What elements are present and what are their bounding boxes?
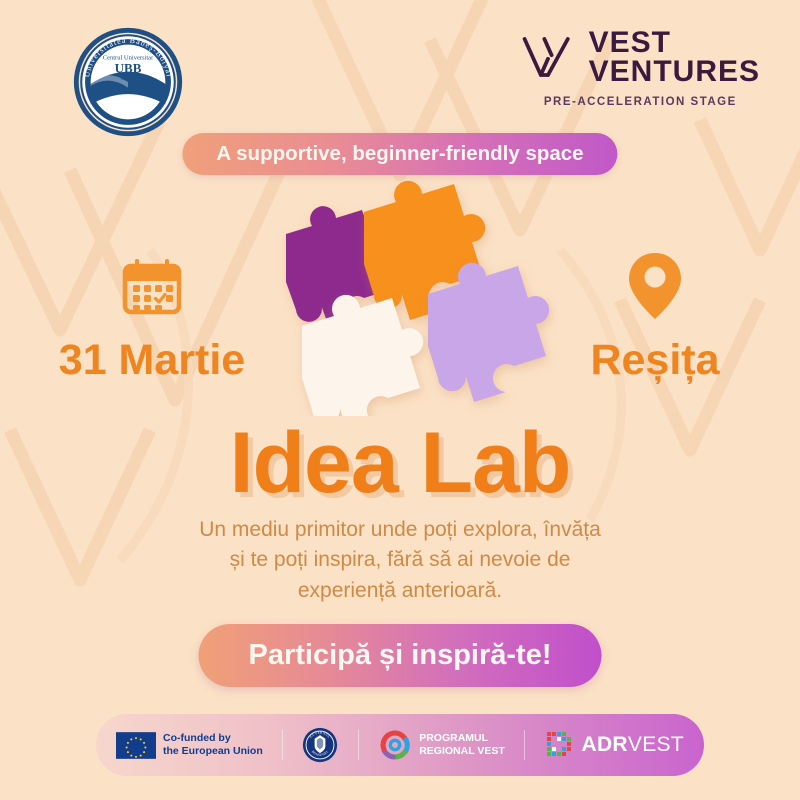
puzzle-pieces-graphic — [268, 176, 558, 416]
adrvest-text: ADRVEST — [582, 733, 684, 757]
ubb-university-seal-icon: Centrul Universitar UBB Reșița Universit… — [72, 26, 184, 138]
calendar-icon — [117, 248, 187, 324]
description-text: Un mediu primitor unde poți explora, înv… — [130, 515, 670, 606]
eu-funding-logo: Co-funded by the European Union — [116, 732, 263, 759]
footer-divider-3 — [524, 730, 525, 760]
vest-ventures-line1: VEST — [589, 28, 760, 57]
cta-button[interactable]: Participă și inspiră-te! — [199, 624, 602, 687]
lavender-piece — [428, 263, 549, 402]
vest-ventures-line2: VENTURES — [589, 57, 760, 86]
svg-text:UBB: UBB — [115, 61, 142, 76]
footer-divider-1 — [282, 730, 283, 760]
svg-text:Reșița: Reșița — [121, 76, 135, 82]
event-date-block: 31 Martie — [34, 248, 270, 385]
adrvest-logo: ADRVEST — [545, 730, 684, 760]
supportive-space-banner: A supportive, beginner-friendly space — [182, 133, 617, 175]
vest-ventures-logo: VEST VENTURES PRE-ACCELERATION STAGE — [521, 28, 760, 108]
adrvest-thin: VEST — [628, 733, 684, 756]
map-pin-icon — [624, 248, 686, 324]
eu-funding-line-1: Co-funded by — [163, 732, 263, 745]
page-title: Idea Lab — [0, 414, 800, 513]
funding-footer-bar: Co-funded by the European Union GUVERNUL… — [96, 714, 704, 776]
adrvest-bold: ADR — [582, 733, 628, 756]
event-location-text: Reșița — [590, 336, 719, 385]
description-line-1: Un mediu primitor unde poți explora, înv… — [130, 515, 670, 545]
eu-funding-line-2: the European Union — [163, 745, 263, 758]
event-location-block: Reșița — [540, 248, 770, 385]
vest-ventures-logo-icon — [521, 30, 575, 84]
guvernul-romaniei-logo: GUVERNUL ROMÂNIEI — [302, 727, 338, 763]
poster-canvas: Centrul Universitar UBB Reșița Universit… — [0, 0, 800, 800]
footer-divider-2 — [358, 730, 359, 760]
event-date-text: 31 Martie — [59, 336, 245, 385]
program-line-2: REGIONAL VEST — [419, 745, 505, 758]
program-line-1: PROGRAMUL — [419, 732, 505, 745]
vest-ventures-subtitle: PRE-ACCELERATION STAGE — [544, 96, 737, 108]
description-line-3: experiență anterioară. — [130, 576, 670, 606]
eu-flag-icon — [116, 732, 156, 759]
programul-regional-vest-logo: PROGRAMUL REGIONAL VEST — [378, 728, 505, 762]
adrvest-mosaic-icon — [545, 730, 575, 760]
guvernul-romaniei-seal-icon: GUVERNUL ROMÂNIEI — [302, 727, 338, 763]
programul-regional-vest-text: PROGRAMUL REGIONAL VEST — [419, 732, 505, 758]
programul-regional-vest-icon — [378, 728, 412, 762]
description-line-2: și te poți inspira, fără să ai nevoie de — [130, 545, 670, 575]
eu-funding-text: Co-funded by the European Union — [163, 732, 263, 758]
